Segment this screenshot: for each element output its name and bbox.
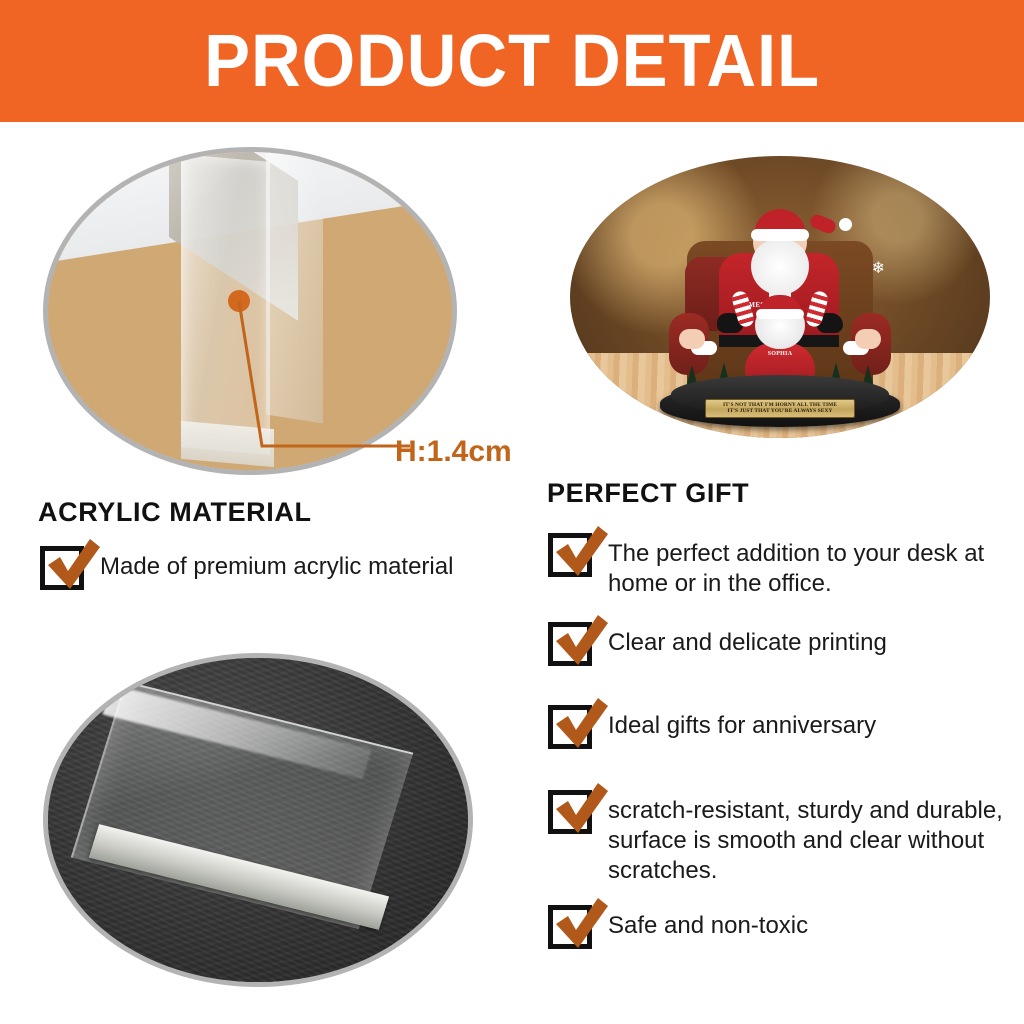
feature-item: Made of premium acrylic material xyxy=(40,546,453,590)
santa-hand-left xyxy=(679,329,705,349)
checkbox-checked xyxy=(548,622,592,666)
feature-item: Clear and delicate printing xyxy=(548,622,887,666)
santa-hand-right xyxy=(855,329,881,349)
engraved-plaque: IT'S NOT THAT I'M HORNY ALL THE TIME IT'… xyxy=(705,399,855,418)
feature-text: Ideal gifts for anniversary xyxy=(608,705,876,741)
checkmark-icon xyxy=(550,896,612,954)
acrylic-front-face xyxy=(181,154,270,454)
dimension-label: H:1.4cm xyxy=(395,435,512,469)
feature-text: Safe and non-toxic xyxy=(608,905,808,941)
feature-text: The perfect addition to your desk at hom… xyxy=(608,533,988,599)
santa-hat-brim xyxy=(751,229,809,241)
checkmark-icon xyxy=(550,524,612,582)
acrylic-side-face xyxy=(266,152,323,424)
checkbox-checked xyxy=(548,790,592,834)
section-heading-perfect-gift: PERFECT GIFT xyxy=(547,478,749,509)
header-banner: PRODUCT DETAIL xyxy=(0,0,1024,122)
page-title: PRODUCT DETAIL xyxy=(204,24,820,98)
plaque-line-2: IT'S JUST THAT YOU'RE ALWAYS SEXY xyxy=(706,408,854,415)
checkmark-icon xyxy=(42,537,104,595)
acrylic-slab-photo xyxy=(48,658,468,982)
checkmark-icon xyxy=(550,781,612,839)
product-detail-page: PRODUCT DETAIL H:1.4cm ❄ xyxy=(0,0,1024,1024)
santa-beard xyxy=(751,239,809,295)
checkbox-checked xyxy=(548,533,592,577)
feature-text: Made of premium acrylic material xyxy=(100,546,453,582)
feature-item: scratch-resistant, sturdy and durable, s… xyxy=(548,790,1008,886)
checkmark-icon xyxy=(550,696,612,754)
product-photo: ❄ JAMES SOPH xyxy=(570,156,990,438)
santa-figurine: ❄ JAMES SOPH xyxy=(657,179,903,427)
checkbox-checked xyxy=(548,905,592,949)
checkbox-checked xyxy=(548,705,592,749)
feature-item: The perfect addition to your desk at hom… xyxy=(548,533,988,599)
lap-figure-hat-brim xyxy=(756,309,804,319)
feature-text: Clear and delicate printing xyxy=(608,622,887,658)
feature-item: Safe and non-toxic xyxy=(548,905,808,949)
santa-hat-pompom xyxy=(839,218,852,231)
plaque-line-1: IT'S NOT THAT I'M HORNY ALL THE TIME xyxy=(706,402,854,409)
feature-item: Ideal gifts for anniversary xyxy=(548,705,876,749)
snowflake-icon: ❄ xyxy=(872,261,885,277)
santa-hat-tail xyxy=(808,212,837,235)
checkmark-icon xyxy=(550,613,612,671)
acrylic-edge-photo xyxy=(48,152,452,470)
personalized-name-secondary: SOPHIA xyxy=(768,351,793,357)
section-heading-acrylic-material: ACRYLIC MATERIAL xyxy=(38,497,312,528)
checkbox-checked xyxy=(40,546,84,590)
feature-text: scratch-resistant, sturdy and durable, s… xyxy=(608,790,1008,886)
